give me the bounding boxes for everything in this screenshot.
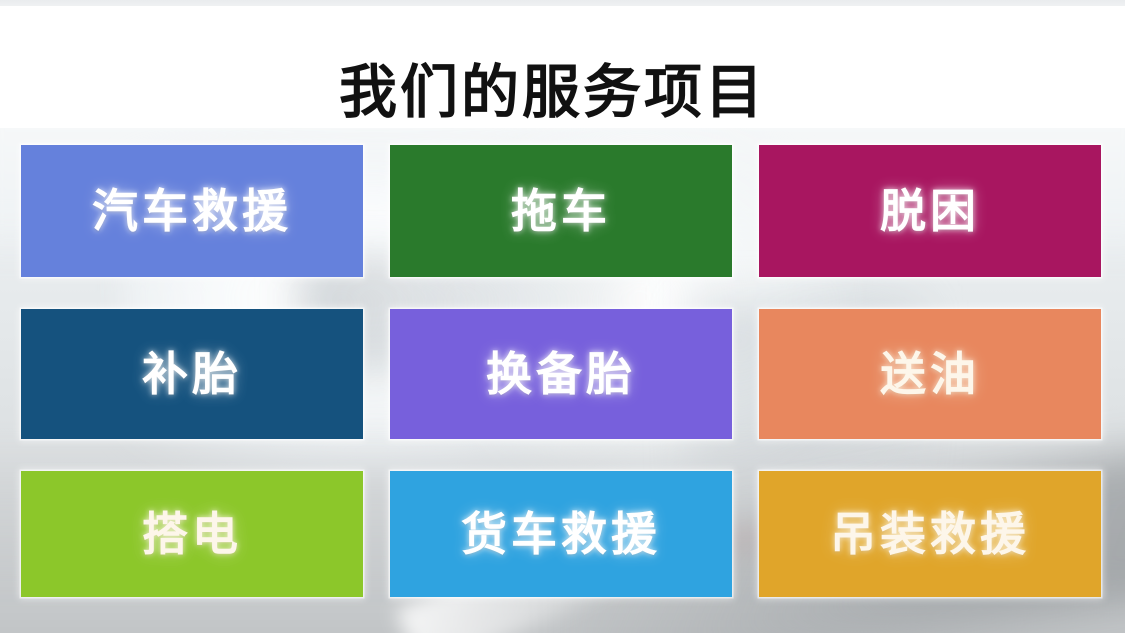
service-tile-label: 拖车: [511, 188, 611, 234]
service-tile-car-rescue[interactable]: 汽车救援: [21, 145, 363, 277]
service-tile-towing[interactable]: 拖车: [390, 145, 732, 277]
service-tile-hoisting-rescue[interactable]: 吊装救援: [759, 471, 1101, 597]
service-tile-label: 货车救援: [461, 511, 661, 557]
service-tile-label: 搭电: [142, 511, 242, 557]
service-tile-label: 送油: [880, 351, 980, 397]
service-tile-spare-tire-change[interactable]: 换备胎: [390, 309, 732, 439]
page-title: 我们的服务项目: [0, 63, 1125, 124]
service-tile-label: 汽车救援: [92, 188, 292, 234]
service-tile-label: 吊装救援: [830, 511, 1030, 557]
service-tile-label: 补胎: [142, 351, 242, 397]
service-tile-jump-start[interactable]: 搭电: [21, 471, 363, 597]
service-tile-grid: 汽车救援 拖车 脱困 补胎 换备胎 送油 搭电 货车救援 吊装救援: [21, 145, 1102, 597]
service-tile-tire-repair[interactable]: 补胎: [21, 309, 363, 439]
service-tile-label: 换备胎: [486, 351, 636, 397]
service-tile-extrication[interactable]: 脱困: [759, 145, 1101, 277]
service-tile-truck-rescue[interactable]: 货车救援: [390, 471, 732, 597]
service-tile-fuel-delivery[interactable]: 送油: [759, 309, 1101, 439]
service-list-slide: 我们的服务项目 汽车救援 拖车 脱困 补胎 换备胎 送油 搭电 货车救援 吊装救…: [0, 0, 1125, 633]
service-tile-label: 脱困: [880, 188, 980, 234]
